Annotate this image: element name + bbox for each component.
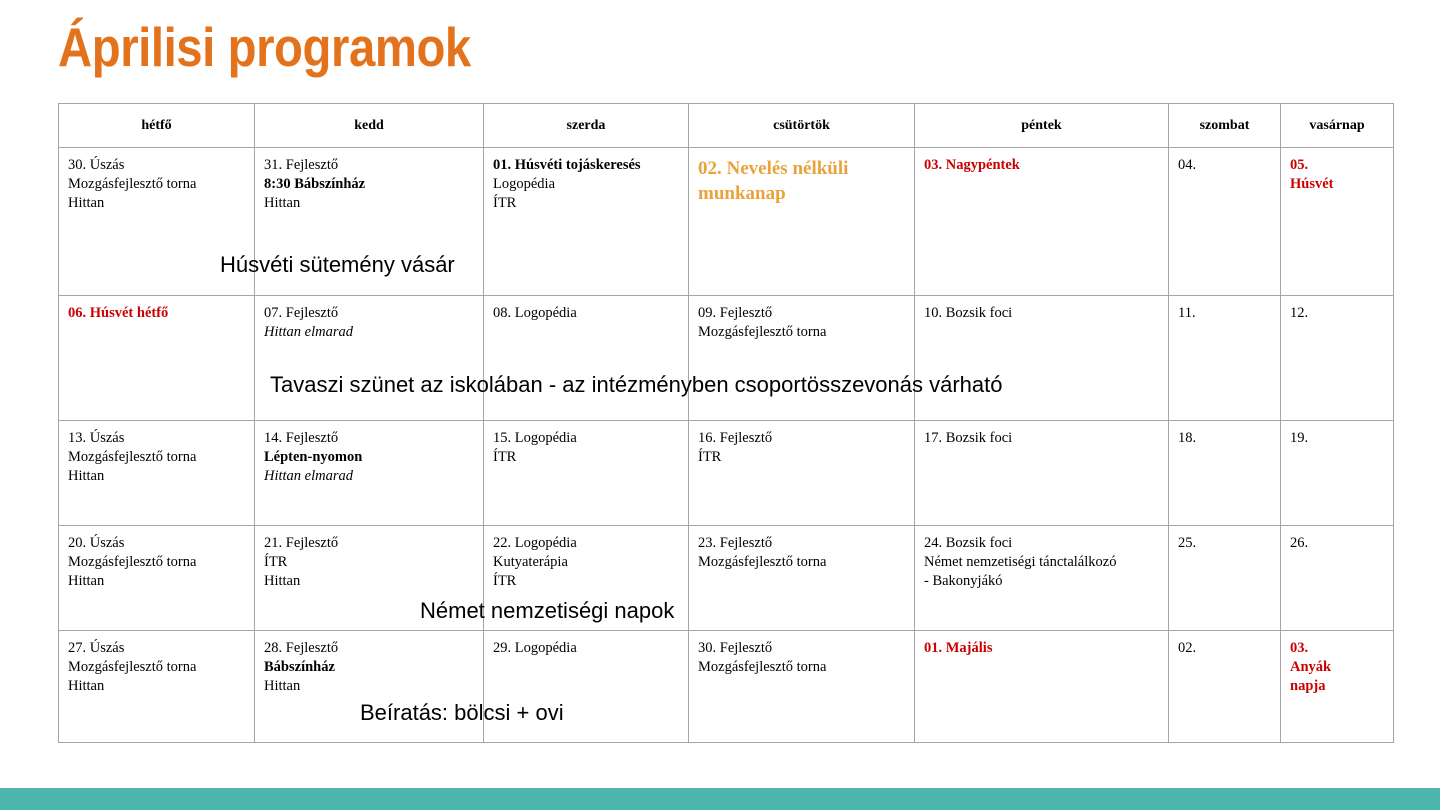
- day-line: 11.: [1178, 304, 1271, 323]
- day-cell[interactable]: 25.: [1169, 526, 1281, 631]
- day-line-special: 02. Nevelés nélküli munkanap: [698, 156, 905, 206]
- day-line-holiday: Húsvét: [1290, 175, 1384, 194]
- bottom-accent-bar: [0, 788, 1440, 810]
- day-line: Mozgásfejlesztő torna: [68, 175, 245, 194]
- column-header-saturday: szombat: [1169, 104, 1281, 148]
- day-cell[interactable]: 19.: [1281, 421, 1394, 526]
- day-line-holiday: 01. Majális: [924, 639, 1159, 658]
- day-line: ÍTR: [264, 553, 474, 572]
- day-line-cancelled: Hittan elmarad: [264, 467, 474, 486]
- day-cell[interactable]: 20. Úszás Mozgásfejlesztő torna Hittan: [59, 526, 255, 631]
- column-header-sunday: vasárnap: [1281, 104, 1394, 148]
- day-line-highlight: Bábszínház: [264, 658, 474, 677]
- day-cell-holiday[interactable]: 06. Húsvét hétfő: [59, 296, 255, 421]
- day-line: 10. Bozsik foci: [924, 304, 1159, 323]
- day-line-holiday: 03.: [1290, 639, 1384, 658]
- day-cell[interactable]: 08. Logopédia: [484, 296, 689, 421]
- day-line: 16. Fejlesztő: [698, 429, 905, 448]
- table-row: 06. Húsvét hétfő 07. Fejlesztő Hittan el…: [59, 296, 1394, 421]
- day-line: Mozgásfejlesztő torna: [698, 323, 905, 342]
- day-line: 29. Logopédia: [493, 639, 679, 658]
- day-line: 31. Fejlesztő: [264, 156, 474, 175]
- column-header-monday: hétfő: [59, 104, 255, 148]
- day-cell[interactable]: 13. Úszás Mozgásfejlesztő torna Hittan: [59, 421, 255, 526]
- day-line: ÍTR: [493, 194, 679, 213]
- day-line: 17. Bozsik foci: [924, 429, 1159, 448]
- overlay-enrollment: Beíratás: bölcsi + ovi: [360, 700, 564, 726]
- day-line: ÍTR: [698, 448, 905, 467]
- day-line: Mozgásfejlesztő torna: [698, 553, 905, 572]
- day-cell[interactable]: 12.: [1281, 296, 1394, 421]
- day-line: - Bakonyjákó: [924, 572, 1159, 591]
- day-line: 12.: [1290, 304, 1384, 323]
- day-line: ÍTR: [493, 572, 679, 591]
- day-line: 19.: [1290, 429, 1384, 448]
- calendar-header-row: hétfő kedd szerda csütörtök péntek szomb…: [59, 104, 1394, 148]
- slide-canvas: Áprilisi programok hétfő kedd szerda csü…: [0, 0, 1440, 810]
- overlay-spring-break: Tavaszi szünet az iskolában - az intézmé…: [270, 372, 1003, 398]
- day-line: Kutyaterápia: [493, 553, 679, 572]
- day-line: 07. Fejlesztő: [264, 304, 474, 323]
- day-line-holiday: napja: [1290, 677, 1384, 696]
- day-line: 26.: [1290, 534, 1384, 553]
- day-line: 04.: [1178, 156, 1271, 175]
- day-line: Hittan: [264, 677, 474, 696]
- day-line: 24. Bozsik foci: [924, 534, 1159, 553]
- table-row: 20. Úszás Mozgásfejlesztő torna Hittan 2…: [59, 526, 1394, 631]
- day-cell[interactable]: 07. Fejlesztő Hittan elmarad: [255, 296, 484, 421]
- day-line: Mozgásfejlesztő torna: [68, 448, 245, 467]
- day-cell[interactable]: 11.: [1169, 296, 1281, 421]
- table-row: 27. Úszás Mozgásfejlesztő torna Hittan 2…: [59, 631, 1394, 743]
- day-line: 23. Fejlesztő: [698, 534, 905, 553]
- day-line-holiday: 06. Húsvét hétfő: [68, 304, 245, 323]
- day-cell-nonteaching-day[interactable]: 02. Nevelés nélküli munkanap: [689, 148, 915, 296]
- day-cell[interactable]: 02.: [1169, 631, 1281, 743]
- day-cell-holiday[interactable]: 03. Anyák napja: [1281, 631, 1394, 743]
- day-cell[interactable]: 30. Fejlesztő Mozgásfejlesztő torna: [689, 631, 915, 743]
- day-cell[interactable]: 10. Bozsik foci: [915, 296, 1169, 421]
- day-line-holiday: 05.: [1290, 156, 1384, 175]
- day-line: 02.: [1178, 639, 1271, 658]
- day-line: Mozgásfejlesztő torna: [698, 658, 905, 677]
- monthly-calendar-table: hétfő kedd szerda csütörtök péntek szomb…: [58, 103, 1394, 743]
- table-row: 13. Úszás Mozgásfejlesztő torna Hittan 1…: [59, 421, 1394, 526]
- day-line: 22. Logopédia: [493, 534, 679, 553]
- day-line: Német nemzetiségi tánctalálkozó: [924, 553, 1159, 572]
- day-line: ÍTR: [493, 448, 679, 467]
- day-line: Hittan: [68, 467, 245, 486]
- day-line: 13. Úszás: [68, 429, 245, 448]
- day-line: Hittan: [68, 194, 245, 213]
- day-cell[interactable]: 14. Fejlesztő Lépten-nyomon Hittan elmar…: [255, 421, 484, 526]
- column-header-friday: péntek: [915, 104, 1169, 148]
- day-line: 18.: [1178, 429, 1271, 448]
- day-cell[interactable]: 27. Úszás Mozgásfejlesztő torna Hittan: [59, 631, 255, 743]
- day-line-holiday: 03. Nagypéntek: [924, 156, 1159, 175]
- column-header-wednesday: szerda: [484, 104, 689, 148]
- day-line: 28. Fejlesztő: [264, 639, 474, 658]
- day-line: Mozgásfejlesztő torna: [68, 553, 245, 572]
- day-line: Mozgásfejlesztő torna: [68, 658, 245, 677]
- day-cell[interactable]: 15. Logopédia ÍTR: [484, 421, 689, 526]
- day-line: 14. Fejlesztő: [264, 429, 474, 448]
- day-line: 09. Fejlesztő: [698, 304, 905, 323]
- day-line-highlight: Lépten-nyomon: [264, 448, 474, 467]
- day-cell[interactable]: 01. Húsvéti tojáskeresés Logopédia ÍTR: [484, 148, 689, 296]
- day-line: 08. Logopédia: [493, 304, 679, 323]
- day-line: Hittan: [264, 572, 474, 591]
- day-line-cancelled: Hittan elmarad: [264, 323, 474, 342]
- day-cell-holiday[interactable]: 05. Húsvét: [1281, 148, 1394, 296]
- day-line: Hittan: [264, 194, 474, 213]
- day-cell-holiday[interactable]: 03. Nagypéntek: [915, 148, 1169, 296]
- day-cell[interactable]: 16. Fejlesztő ÍTR: [689, 421, 915, 526]
- column-header-thursday: csütörtök: [689, 104, 915, 148]
- column-header-tuesday: kedd: [255, 104, 484, 148]
- day-line: 30. Úszás: [68, 156, 245, 175]
- day-line-highlight: 8:30 Bábszínház: [264, 175, 474, 194]
- day-line: Hittan: [68, 572, 245, 591]
- day-line: Logopédia: [493, 175, 679, 194]
- day-cell[interactable]: 17. Bozsik foci: [915, 421, 1169, 526]
- day-line: 25.: [1178, 534, 1271, 553]
- day-cell[interactable]: 09. Fejlesztő Mozgásfejlesztő torna: [689, 296, 915, 421]
- day-line: 30. Fejlesztő: [698, 639, 905, 658]
- day-cell[interactable]: 23. Fejlesztő Mozgásfejlesztő torna: [689, 526, 915, 631]
- day-line: 20. Úszás: [68, 534, 245, 553]
- day-line-holiday: Anyák: [1290, 658, 1384, 677]
- day-line: 27. Úszás: [68, 639, 245, 658]
- day-line: 21. Fejlesztő: [264, 534, 474, 553]
- overlay-easter-cake-fair: Húsvéti sütemény vásár: [220, 252, 455, 278]
- day-line: Hittan: [68, 677, 245, 696]
- page-title: Áprilisi programok: [58, 16, 471, 78]
- day-cell[interactable]: 26.: [1281, 526, 1394, 631]
- day-cell[interactable]: 24. Bozsik foci Német nemzetiségi táncta…: [915, 526, 1169, 631]
- day-cell[interactable]: 18.: [1169, 421, 1281, 526]
- overlay-german-days: Német nemzetiségi napok: [420, 598, 674, 624]
- day-line-highlight: 01. Húsvéti tojáskeresés: [493, 156, 679, 175]
- day-line: 15. Logopédia: [493, 429, 679, 448]
- day-cell[interactable]: 04.: [1169, 148, 1281, 296]
- day-cell-holiday[interactable]: 01. Majális: [915, 631, 1169, 743]
